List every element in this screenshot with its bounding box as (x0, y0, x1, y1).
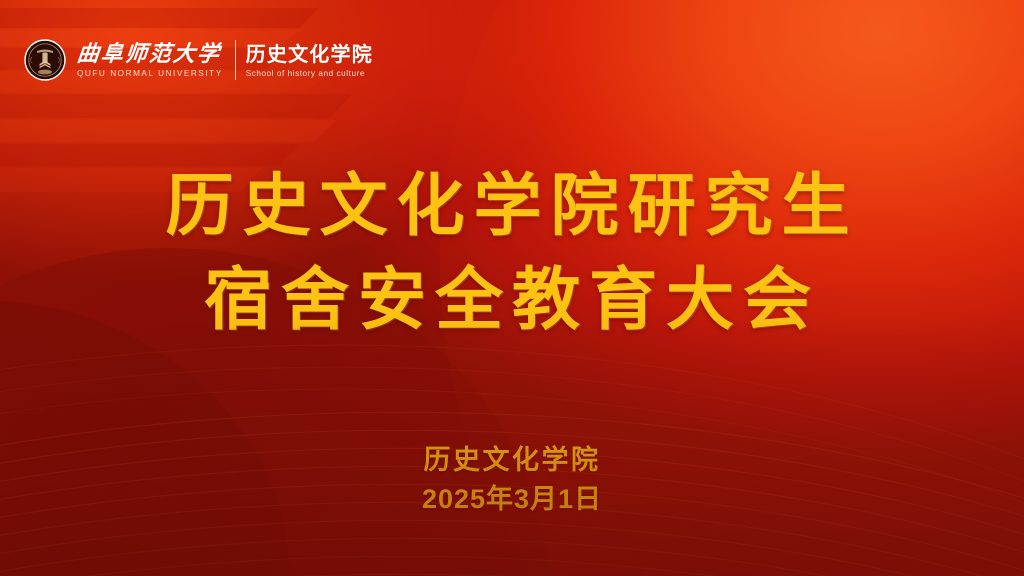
university-seal-icon (24, 39, 66, 81)
slide-title-line-1: 历史文化学院研究生 (0, 160, 1024, 254)
school-name-cn: 历史文化学院 (246, 43, 373, 65)
university-logo-lockup: 曲阜师范大学 QUFU NORMAL UNIVERSITY 历史文化学院 Sch… (24, 36, 373, 84)
background-bottom-shade (0, 311, 1024, 576)
school-name-block: 历史文化学院 School of history and culture (246, 38, 373, 82)
logo-divider (235, 40, 236, 80)
presentation-title-slide: 曲阜师范大学 QUFU NORMAL UNIVERSITY 历史文化学院 Sch… (0, 0, 1024, 576)
school-name-en: School of history and culture (246, 69, 373, 78)
university-name-en: QUFU NORMAL UNIVERSITY (77, 69, 223, 78)
university-name-block: 曲阜师范大学 QUFU NORMAL UNIVERSITY (77, 38, 223, 82)
university-name-cn: 曲阜师范大学 (76, 42, 224, 66)
